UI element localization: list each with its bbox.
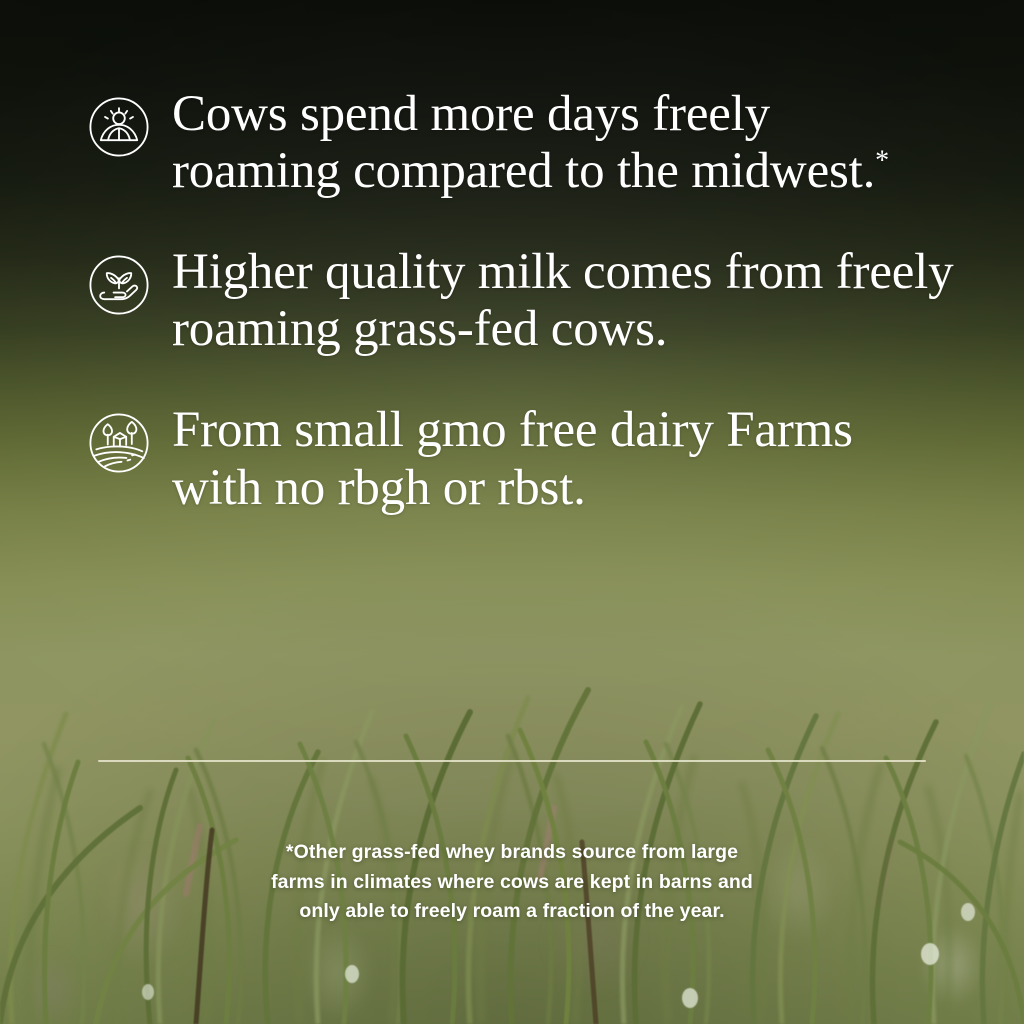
benefit-text-body: From small gmo free dairy Farms with no … <box>172 402 853 515</box>
sun-over-field-icon <box>88 96 150 158</box>
hand-holding-sprout-icon <box>88 254 150 316</box>
promo-graphic: Cows spend more days freely roaming comp… <box>0 0 1024 1024</box>
footnote-line-3: only able to freely roam a fraction of t… <box>190 897 834 927</box>
benefits-list: Cows spend more days freely roaming comp… <box>88 86 998 517</box>
farm-barn-field-icon <box>88 412 150 474</box>
benefit-text-body: Higher quality milk comes from freely ro… <box>172 244 953 357</box>
footnote-disclaimer: *Other grass-fed whey brands source from… <box>0 838 1024 927</box>
benefit-text: From small gmo free dairy Farms with no … <box>172 402 894 516</box>
benefit-text-body: Cows spend more days freely roaming comp… <box>172 86 875 199</box>
footnote-line-2: farms in climates where cows are kept in… <box>190 868 834 898</box>
benefit-item: Cows spend more days freely roaming comp… <box>88 86 998 200</box>
benefit-item: Higher quality milk comes from freely ro… <box>88 244 998 358</box>
footnote-marker: * <box>875 146 889 177</box>
benefit-text: Higher quality milk comes from freely ro… <box>172 244 984 358</box>
footnote-line-1: *Other grass-fed whey brands source from… <box>190 838 834 868</box>
benefit-text: Cows spend more days freely roaming comp… <box>172 86 917 200</box>
section-divider <box>98 760 926 762</box>
benefit-item: From small gmo free dairy Farms with no … <box>88 402 998 516</box>
